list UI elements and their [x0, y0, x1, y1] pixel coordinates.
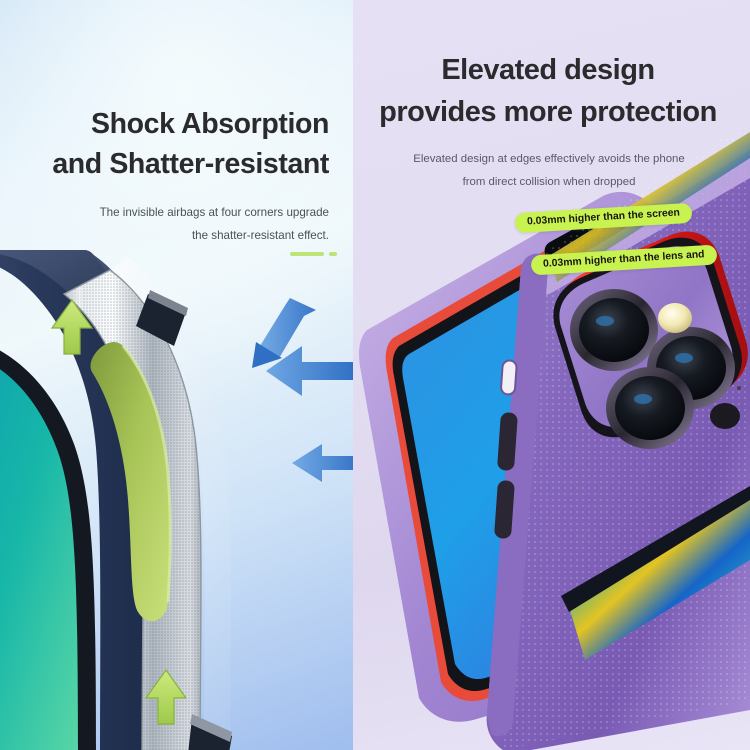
airbag-cutaway-illustration — [0, 250, 353, 750]
right-subtitle-line1: Elevated design at edges effectively avo… — [353, 148, 745, 171]
accent-dash-icon — [290, 252, 324, 256]
elevated-design-panel: 0.3MM — [353, 0, 750, 750]
accent-dash-small-icon — [329, 252, 337, 256]
right-heading-line1: Elevated design — [353, 50, 748, 92]
camera-lens-top-left — [570, 289, 658, 371]
microphone-icon — [737, 386, 741, 390]
right-subtitle-line2: from direct collision when dropped — [353, 171, 745, 194]
left-heading-line1: Shock Absorption — [0, 104, 329, 144]
camera-lens-bottom-left — [606, 367, 694, 449]
left-heading: Shock Absorption and Shatter-resistant — [0, 104, 341, 185]
right-heading-line2: provides more protection — [353, 92, 748, 134]
shock-absorption-panel: Shock Absorption and Shatter-resistant T… — [0, 0, 353, 750]
lidar-sensor-icon — [710, 403, 740, 429]
impact-arrow-3 — [292, 444, 353, 482]
product-feature-image: Shock Absorption and Shatter-resistant T… — [0, 0, 750, 750]
right-subtitle: Elevated design at edges effectively avo… — [353, 148, 745, 194]
left-subtitle-line2: the shatter-resistant effect. — [0, 225, 329, 248]
left-subtitle-line1: The invisible airbags at four corners up… — [0, 202, 329, 225]
mute-switch — [501, 360, 517, 395]
impact-arrow-1 — [252, 298, 316, 368]
left-subtitle: The invisible airbags at four corners up… — [0, 202, 341, 247]
left-heading-line2: and Shatter-resistant — [0, 144, 329, 184]
right-heading: Elevated design provides more protection — [353, 50, 748, 134]
led-flash-icon — [658, 303, 692, 333]
